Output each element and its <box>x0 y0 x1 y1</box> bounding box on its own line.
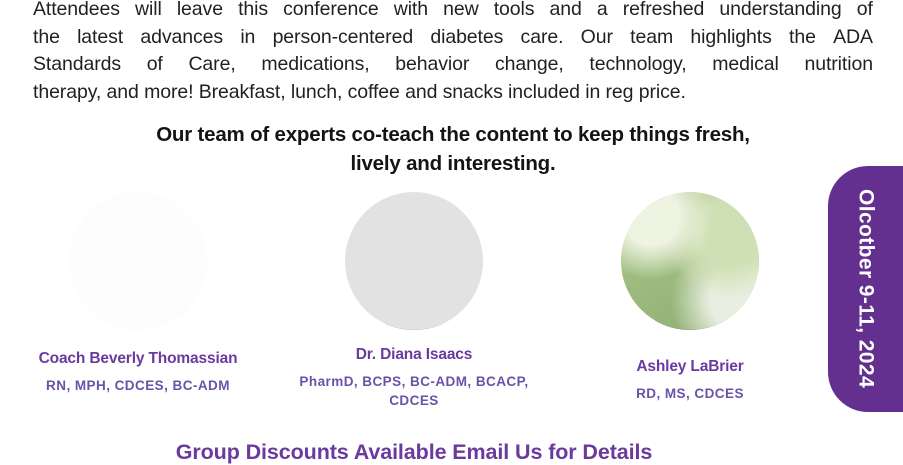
speaker-name: Coach Beverly Thomassian <box>39 350 238 368</box>
headshot-diana-isaacs <box>345 192 483 330</box>
intro-line-2: thelatestadvancesinperson-centereddiabet… <box>33 24 873 52</box>
speaker-list: Coach Beverly Thomassian RN, MPH, CDCES,… <box>0 192 828 410</box>
speaker-card: Coach Beverly Thomassian RN, MPH, CDCES,… <box>0 192 276 410</box>
intro-paragraph: Attendeeswillleavethisconferencewithnewt… <box>33 0 873 106</box>
speaker-credentials: PharmD, BCPS, BC-ADM, BCACP, CDCES <box>276 372 552 410</box>
headshot-ashley-labrier <box>621 192 759 330</box>
intro-line-4: therapy, and more! Breakfast, lunch, cof… <box>33 79 873 107</box>
tagline-line-1: Our team of experts co-teach the content… <box>33 120 873 149</box>
speaker-credentials: RN, MPH, CDCES, BC-ADM <box>46 376 230 395</box>
speaker-name: Dr. Diana Isaacs <box>356 346 473 364</box>
group-discounts-line: Group Discounts Available Email Us for D… <box>0 440 828 465</box>
intro-line-1: Attendeeswillleavethisconferencewithnewt… <box>33 0 873 24</box>
date-tab: Olcotber 9-11, 2024 <box>828 166 903 412</box>
tagline: Our team of experts co-teach the content… <box>33 120 873 178</box>
headshot-beverly-thomassian <box>69 192 207 330</box>
intro-line-3: StandardsofCare,medications,behaviorchan… <box>33 51 873 79</box>
date-tab-label: Olcotber 9-11, 2024 <box>828 166 903 412</box>
tagline-line-2: lively and interesting. <box>33 149 873 178</box>
speaker-card: Ashley LaBrier RD, MS, CDCES <box>552 192 828 410</box>
speaker-name: Ashley LaBrier <box>636 358 743 376</box>
speaker-card: Dr. Diana Isaacs PharmD, BCPS, BC-ADM, B… <box>276 192 552 410</box>
speaker-credentials: RD, MS, CDCES <box>636 384 744 403</box>
